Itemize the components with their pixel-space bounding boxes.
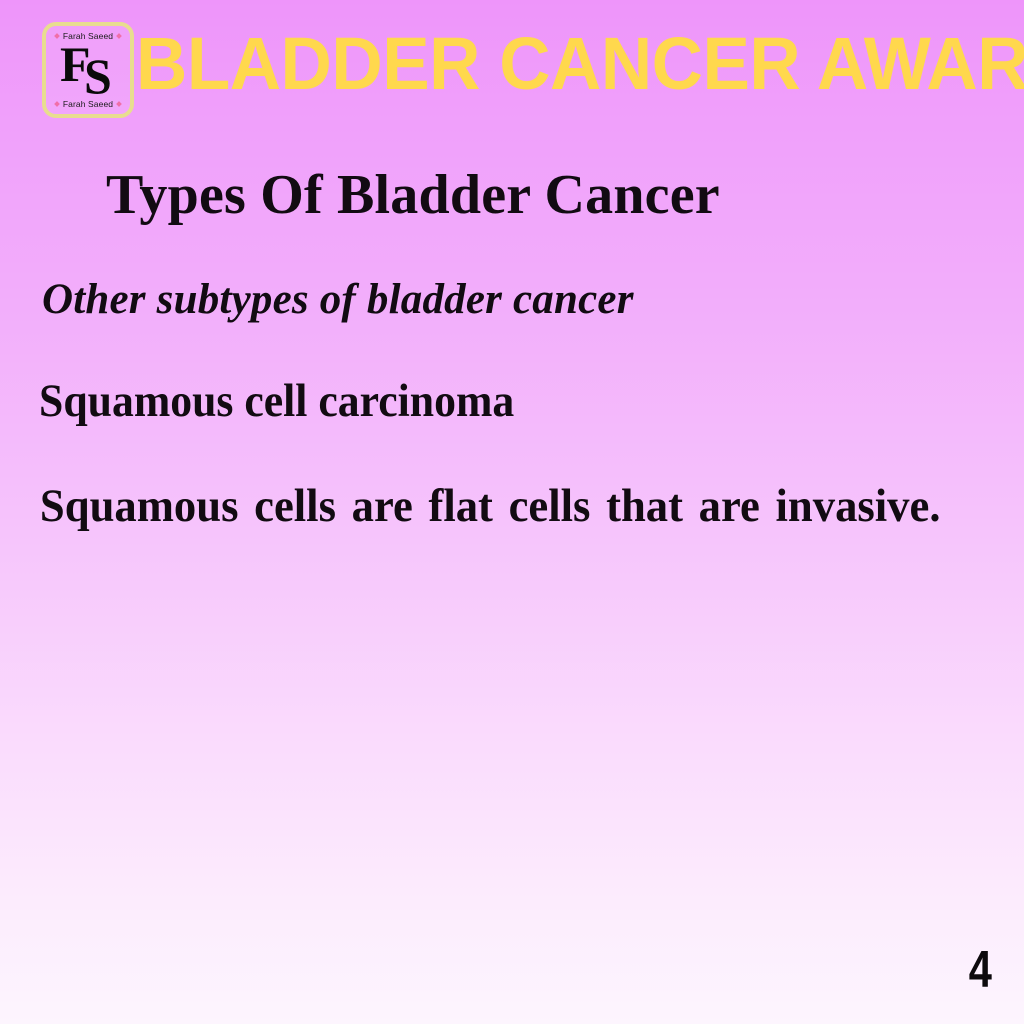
logo-monogram: F S [54,41,122,99]
subheading: Other subtypes of bladder cancer [0,275,1024,324]
diamond-icon-right [116,33,122,39]
logo-badge[interactable]: Farah Saeed F S Farah Saeed [42,22,134,118]
page-title: Types Of Bladder Cancer [0,165,1024,227]
section-heading: Squamous cell carcinoma [0,376,952,428]
page-number: 4 [969,944,992,996]
awareness-banner-title: BLADDER CANCER AWARENESS [136,22,967,106]
monogram-letter-s: S [84,51,112,101]
slide-canvas: Farah Saeed F S Farah Saeed BLADDER CANC… [0,0,1024,1024]
diamond-icon-left-bottom [54,101,60,107]
diamond-icon-left [54,33,60,39]
header-band: Farah Saeed F S Farah Saeed BLADDER CANC… [0,0,1024,140]
body-paragraph: Squamous cells are flat cells that are i… [0,476,973,596]
slide-content: Types Of Bladder Cancer Other subtypes o… [0,140,1024,596]
diamond-icon-right-bottom [116,101,122,107]
